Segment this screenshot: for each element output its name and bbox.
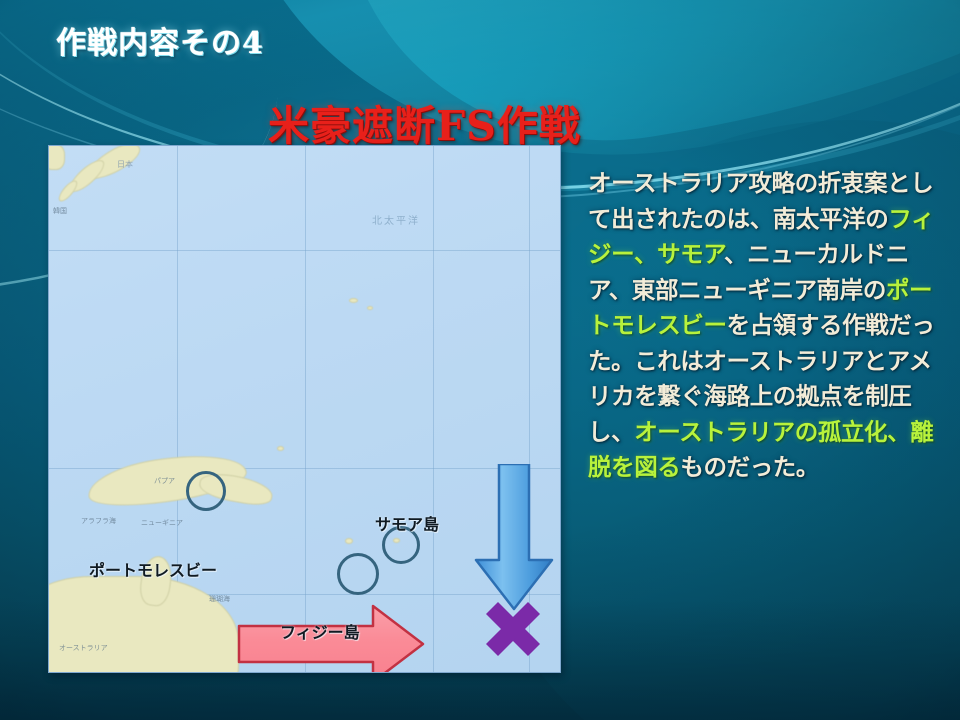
- map-island-dot: [367, 306, 373, 310]
- map-label-australia: オーストラリア: [59, 643, 108, 653]
- map-figure: AMVマ 日本北太平洋韓国パプアアラフラ海ニューギニア珊瑚海ポートモレスビーサモ…: [48, 145, 561, 673]
- map-label-port-moresby: ポートモレスビー: [89, 557, 217, 581]
- map-island-dot: [277, 446, 284, 451]
- map-label-japan: 日本: [117, 159, 133, 170]
- body-text-run: ものだった。: [680, 453, 819, 481]
- map-gridline-h: [49, 250, 560, 251]
- body-text-run: オーストラリア攻略の折衷案として出されたのは、南太平洋の: [588, 169, 933, 233]
- port-moresby-circle: [186, 471, 226, 511]
- objective-x-mark-icon: [483, 601, 543, 657]
- map-island-dot: [349, 298, 358, 303]
- map-label-papua: パプア: [154, 476, 175, 486]
- fiji-circle: [337, 553, 379, 595]
- map-label-samoa: サモア島: [375, 511, 439, 535]
- map-label-korea: 韓国: [53, 206, 67, 216]
- map-land-korea: [48, 145, 65, 170]
- map-label-arafura: アラフラ海: [81, 516, 116, 526]
- map-label-pacific: 北太平洋: [372, 212, 420, 227]
- map-label-new-guinea: ニューギニア: [141, 518, 183, 528]
- body-text: オーストラリア攻略の折衷案として出されたのは、南太平洋のフィジー、サモア、ニュー…: [588, 166, 938, 486]
- blue-down-arrow-icon: [473, 464, 555, 612]
- presentation-slide: 作戦内容その4 米豪遮断FS作戦 オーストラリア攻略の折衷案として出されたのは、…: [0, 0, 960, 720]
- map-label-fiji: フィジー島: [280, 619, 360, 643]
- map-label-coral-sea: 珊瑚海: [209, 594, 230, 604]
- map-island-dot: [345, 538, 353, 544]
- page-title: 米豪遮断FS作戦: [268, 92, 581, 152]
- slide-kicker: 作戦内容その4: [56, 18, 264, 62]
